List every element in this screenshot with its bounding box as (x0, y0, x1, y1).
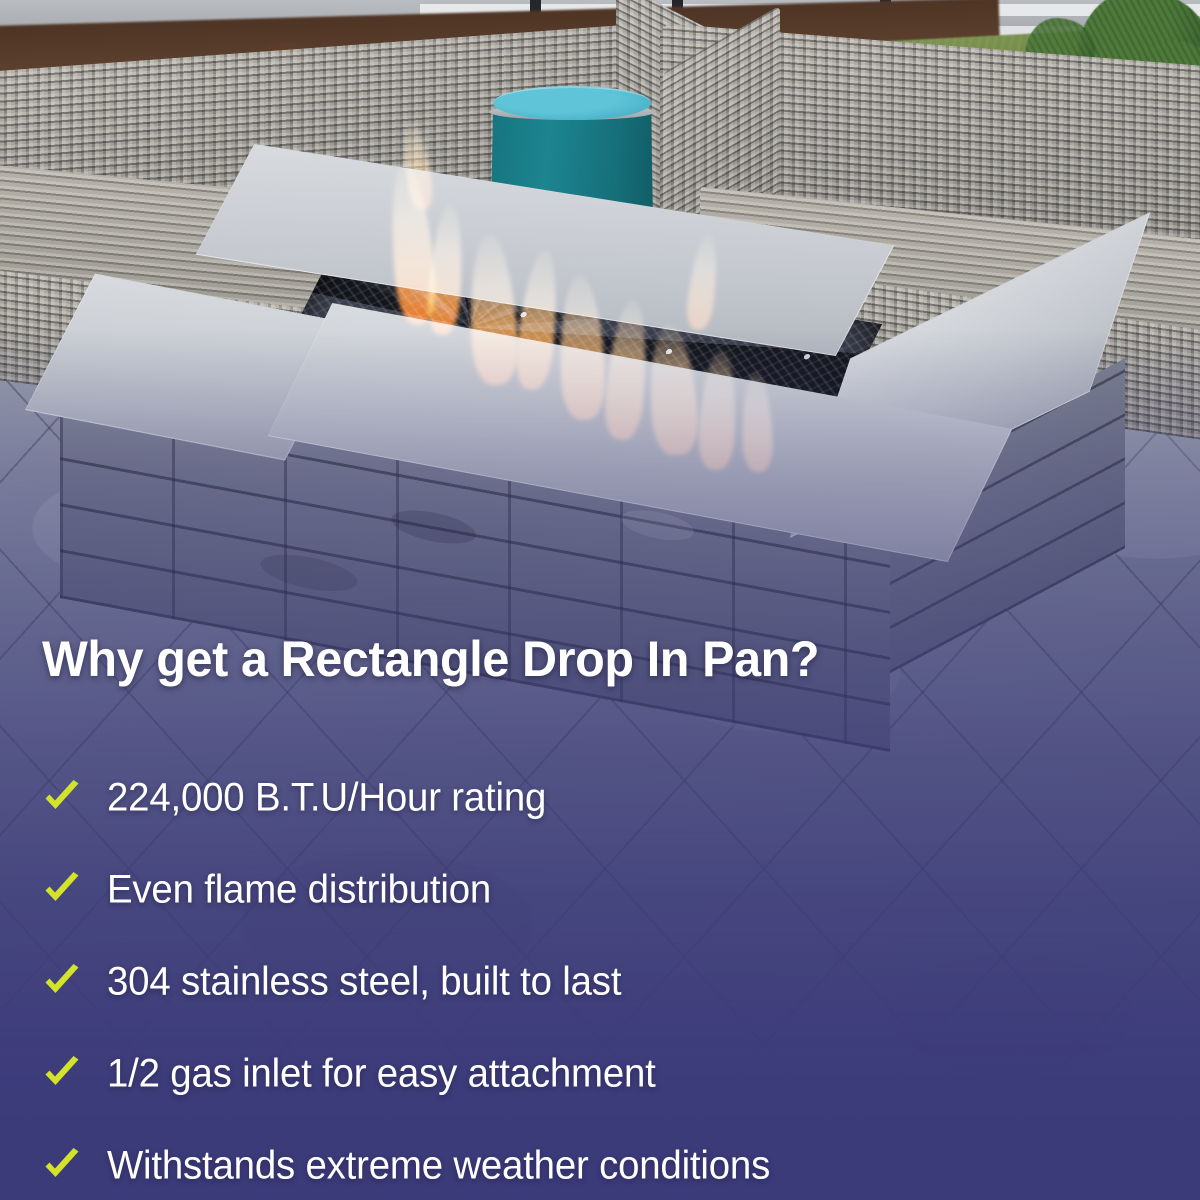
product-promo-card: Why get a Rectangle Drop In Pan? 224,000… (0, 0, 1200, 1200)
list-item-label: 224,000 B.T.U/Hour rating (107, 776, 546, 821)
list-item: 1/2 gas inlet for easy attachment (0, 1028, 1200, 1120)
list-item-label: 1/2 gas inlet for easy attachment (107, 1052, 656, 1097)
page-title: Why get a Rectangle Drop In Pan? (42, 630, 819, 688)
promo-copy: Why get a Rectangle Drop In Pan? 224,000… (0, 0, 1200, 1200)
feature-list: 224,000 B.T.U/Hour rating Even flame dis… (0, 752, 1200, 1200)
check-icon (42, 1146, 82, 1186)
list-item: 224,000 B.T.U/Hour rating (0, 752, 1200, 844)
list-item-label: 304 stainless steel, built to last (107, 960, 621, 1005)
list-item: Even flame distribution (0, 844, 1200, 936)
list-item: 304 stainless steel, built to last (0, 936, 1200, 1028)
list-item-label: Even flame distribution (107, 868, 491, 913)
list-item-label: Withstands extreme weather conditions (107, 1144, 770, 1189)
list-item: Withstands extreme weather conditions (0, 1120, 1200, 1200)
check-icon (42, 1054, 82, 1094)
check-icon (42, 778, 82, 818)
check-icon (42, 962, 82, 1002)
check-icon (42, 870, 82, 910)
